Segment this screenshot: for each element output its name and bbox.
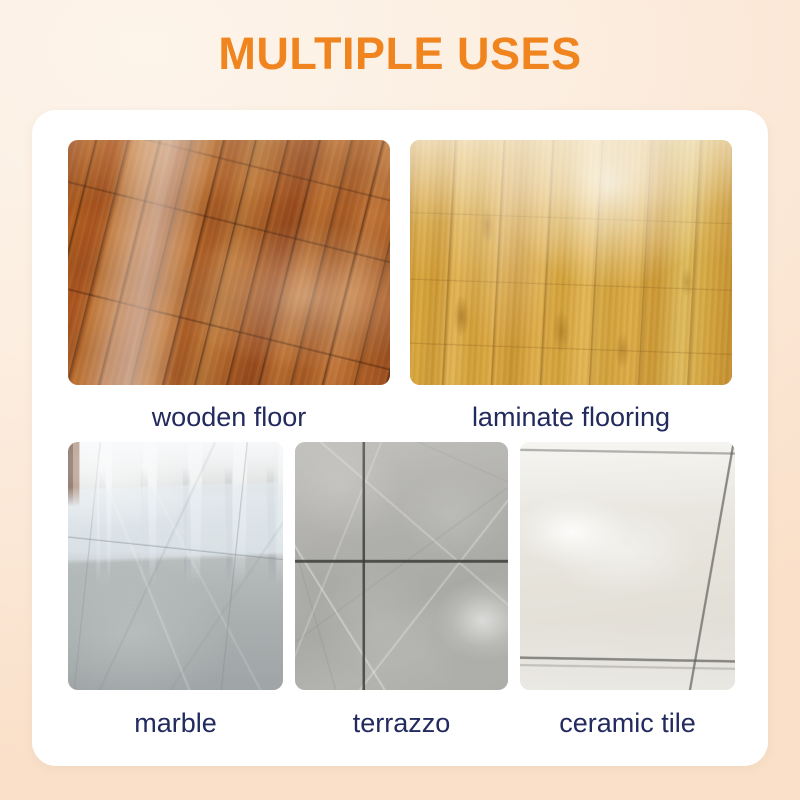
caption-wooden-floor: wooden floor (68, 400, 390, 434)
wood-gloss-highlight (68, 140, 390, 385)
infographic-page: MULTIPLE USES wooden floor (0, 0, 800, 800)
wooden-floor-photo (68, 140, 390, 385)
terrazzo-gloss-highlight (295, 442, 508, 690)
terrazzo-photo (295, 442, 508, 690)
top-row: wooden floor laminate flooring (32, 140, 768, 445)
use-cell-terrazzo[interactable]: terrazzo (295, 442, 508, 740)
caption-terrazzo: terrazzo (295, 706, 508, 740)
marble-gloss-highlight (68, 442, 283, 690)
ceramic-tile-photo (520, 442, 735, 690)
caption-laminate-flooring: laminate flooring (410, 400, 732, 434)
uses-card: wooden floor laminate flooring (32, 110, 768, 766)
use-cell-laminate-flooring[interactable]: laminate flooring (410, 140, 732, 434)
laminate-flooring-photo (410, 140, 732, 385)
use-cell-wooden-floor[interactable]: wooden floor (68, 140, 390, 434)
caption-ceramic-tile: ceramic tile (520, 706, 735, 740)
laminate-gloss-highlight (410, 140, 732, 385)
marble-photo (68, 442, 283, 690)
ceramic-grout-lines (520, 442, 735, 690)
use-cell-marble[interactable]: marble (68, 442, 283, 740)
page-title: MULTIPLE USES (0, 28, 800, 80)
caption-marble: marble (68, 706, 283, 740)
use-cell-ceramic-tile[interactable]: ceramic tile (520, 442, 735, 740)
bottom-row: marble terrazzo ceramic tile (32, 442, 768, 742)
